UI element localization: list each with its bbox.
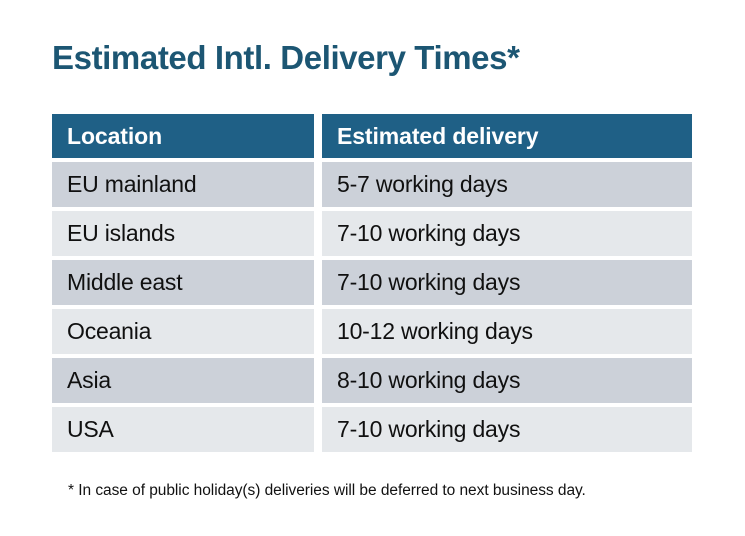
cell-location: EU islands [52,211,314,256]
column-header-location: Location [52,114,314,158]
table-row: Asia 8-10 working days [52,358,692,403]
table-row: Oceania 10-12 working days [52,309,692,354]
footnote-text: * In case of public holiday(s) deliverie… [68,481,586,501]
table-row: EU islands 7-10 working days [52,211,692,256]
cell-estimated-delivery: 7-10 working days [322,260,692,305]
table-row: USA 7-10 working days [52,407,692,452]
column-header-estimated-delivery: Estimated delivery [322,114,692,158]
cell-location: EU mainland [52,162,314,207]
table-header-row: Location Estimated delivery [52,114,692,158]
cell-estimated-delivery: 7-10 working days [322,407,692,452]
cell-estimated-delivery: 7-10 working days [322,211,692,256]
table-row: EU mainland 5-7 working days [52,162,692,207]
cell-location: Middle east [52,260,314,305]
delivery-times-table: Location Estimated delivery EU mainland … [52,114,692,452]
cell-estimated-delivery: 5-7 working days [322,162,692,207]
cell-estimated-delivery: 8-10 working days [322,358,692,403]
cell-location: Oceania [52,309,314,354]
cell-location: Asia [52,358,314,403]
delivery-times-card: Estimated Intl. Delivery Times* Location… [0,0,745,536]
table-row: Middle east 7-10 working days [52,260,692,305]
page-title: Estimated Intl. Delivery Times* [52,38,520,78]
cell-estimated-delivery: 10-12 working days [322,309,692,354]
cell-location: USA [52,407,314,452]
